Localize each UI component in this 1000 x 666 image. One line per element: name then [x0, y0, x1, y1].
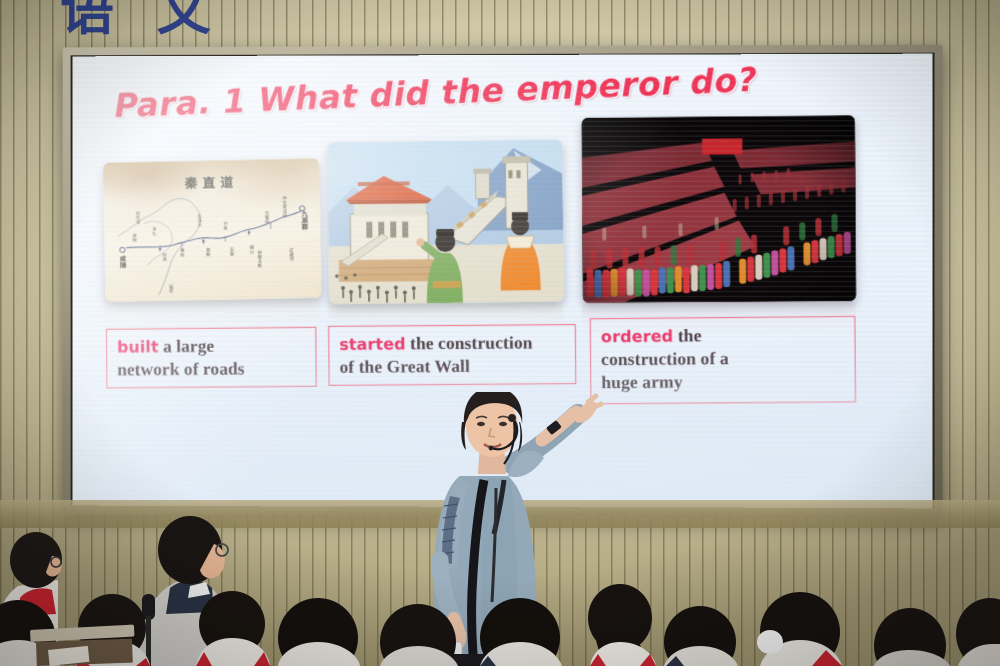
box-army-line-1: the [678, 325, 702, 345]
box-roads-line-2: network of roads [117, 358, 245, 379]
svg-text:富縣: 富縣 [205, 247, 210, 257]
box-wall-line-2: of the Great Wall [339, 356, 470, 377]
svg-text:烏審旗: 烏審旗 [264, 209, 269, 225]
picture-qin-road-map: 秦直道 [103, 158, 322, 302]
terracotta-army-artwork [581, 115, 856, 303]
picture-terracotta-army [581, 115, 856, 303]
highlight-built: built [117, 337, 159, 356]
svg-text:北洛水: 北洛水 [196, 213, 201, 228]
students-figures [0, 490, 1000, 666]
student-audience [0, 490, 1000, 666]
text-box-great-wall: started the construction of the Great Wa… [328, 324, 576, 386]
svg-text:伊金霍洛旗: 伊金霍洛旗 [282, 195, 288, 220]
text-box-roads: built a large network of roads [106, 327, 317, 388]
svg-text:雲陽: 雲陽 [131, 233, 136, 243]
wall-banner-text: 语 文 [60, 0, 223, 45]
box-army-line-3: huge army [601, 371, 683, 392]
svg-text:橫山: 橫山 [249, 244, 254, 255]
svg-text:鄂爾多斯: 鄂爾多斯 [257, 249, 263, 269]
slide-title: Para. 1 What did the emperor do? [114, 60, 759, 125]
svg-text:陝西省: 陝西省 [135, 210, 140, 226]
highlight-started: started [339, 334, 405, 353]
svg-text:延安: 延安 [168, 283, 173, 294]
svg-text:黃陵: 黃陵 [179, 247, 184, 258]
svg-text:咸陽: 咸陽 [119, 254, 127, 270]
classroom-scene: 语 文 Para. 1 What did the emperor do? 秦直道 [0, 0, 1000, 666]
great-wall-artwork [328, 140, 564, 305]
svg-text:甘泉: 甘泉 [222, 220, 227, 230]
box-wall-line-1: the construction [410, 332, 533, 353]
map-lines: 咸陽 九原郡 雲陽 淳化 旬邑 黃陵 北洛水 富縣 甘泉 安塞 橫山 烏審旗 鄂… [103, 158, 322, 302]
svg-text:淳化: 淳化 [151, 226, 156, 237]
svg-text:紅慶河: 紅慶河 [288, 247, 293, 262]
highlight-ordered: ordered [601, 327, 674, 347]
svg-text:旬邑: 旬邑 [162, 251, 167, 261]
text-box-army: ordered the construction of a huge army [590, 316, 856, 404]
desk-and-materials [30, 625, 134, 666]
box-army-line-2: construction of a [601, 348, 729, 369]
svg-text:安塞: 安塞 [229, 246, 234, 256]
svg-text:九原郡: 九原郡 [300, 209, 309, 231]
box-roads-line-1: a large [163, 336, 214, 356]
picture-great-wall [328, 140, 564, 305]
